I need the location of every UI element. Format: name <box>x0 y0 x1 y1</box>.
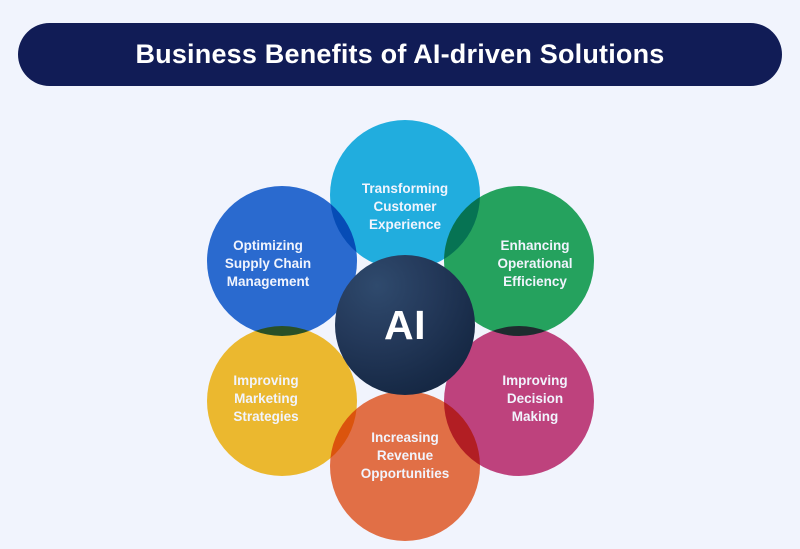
petal-label-supply-chain: Optimizing Supply Chain Management <box>225 237 311 290</box>
petal-diagram: Transforming Customer Experience Enhanci… <box>0 95 800 549</box>
petal-label-decision-making: Improving Decision Making <box>502 372 567 425</box>
petal-supply-chain[interactable]: Optimizing Supply Chain Management <box>207 186 357 336</box>
page-title: Business Benefits of AI-driven Solutions <box>135 39 664 70</box>
petal-label-operational-efficiency: Enhancing Operational Efficiency <box>497 237 572 290</box>
center-hub-ai[interactable]: AI <box>335 255 475 395</box>
petal-label-customer-experience: Transforming Customer Experience <box>362 180 448 233</box>
center-hub-label: AI <box>384 305 426 346</box>
petal-marketing-strategies[interactable]: Improving Marketing Strategies <box>207 326 357 476</box>
title-banner: Business Benefits of AI-driven Solutions <box>18 23 782 86</box>
petal-label-marketing-strategies: Improving Marketing Strategies <box>233 372 298 425</box>
petal-label-revenue-opportunities: Increasing Revenue Opportunities <box>361 429 450 482</box>
